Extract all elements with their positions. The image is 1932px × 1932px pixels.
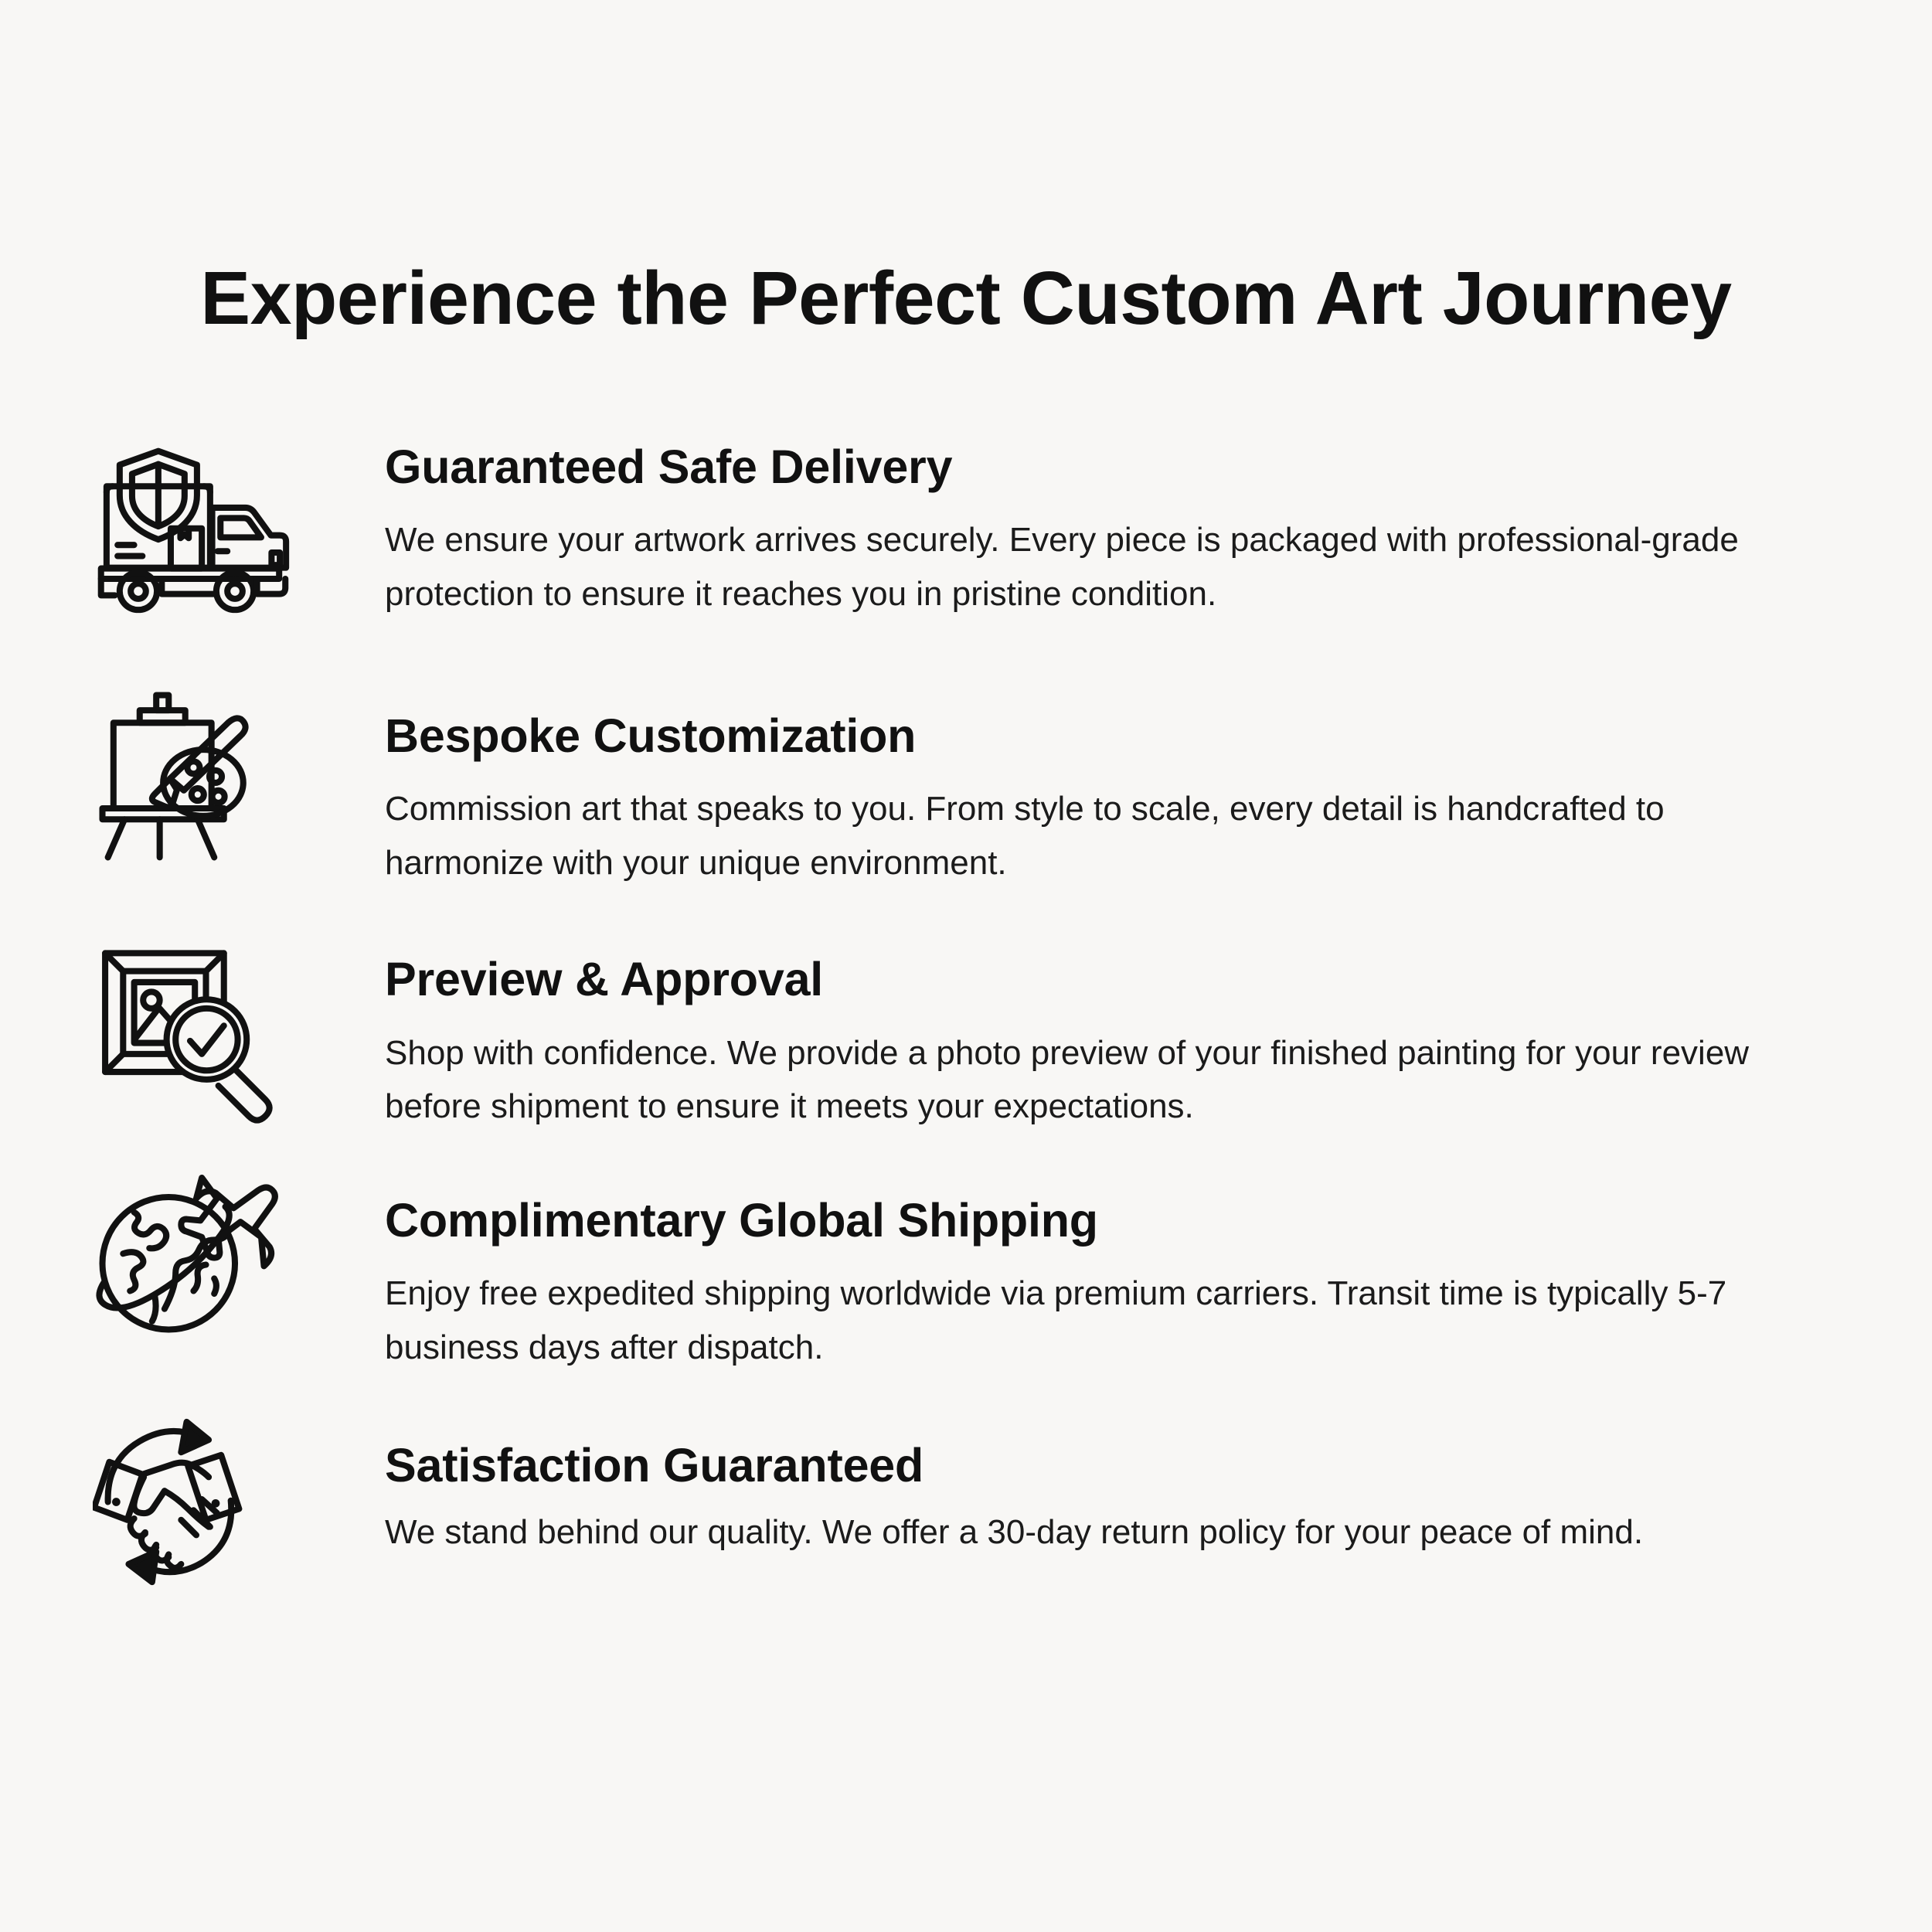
feature-text-block: Guaranteed Safe Delivery We ensure your … <box>325 433 1754 621</box>
feature-description: We ensure your artwork arrives securely.… <box>385 513 1754 621</box>
feature-item-preview-approval: Preview & Approval Shop with confidence.… <box>93 927 1839 1133</box>
feature-description: We stand behind our quality. We offer a … <box>385 1505 1754 1560</box>
feature-description: Shop with confidence. We provide a photo… <box>385 1026 1754 1134</box>
feature-title: Complimentary Global Shipping <box>385 1194 1754 1247</box>
feature-title: Preview & Approval <box>385 953 1754 1005</box>
framed-picture-magnifier-check-icon <box>93 927 325 1128</box>
feature-item-bespoke-customization: Bespoke Customization Commission art tha… <box>93 675 1839 889</box>
feature-description: Enjoy free expedited shipping worldwide … <box>385 1267 1754 1374</box>
handshake-refresh-arrows-icon <box>93 1405 325 1606</box>
feature-item-satisfaction-guaranteed: Satisfaction Guaranteed We stand behind … <box>93 1405 1839 1606</box>
shield-delivery-truck-icon <box>93 433 325 634</box>
feature-text-block: Bespoke Customization Commission art tha… <box>325 675 1754 889</box>
feature-text-block: Satisfaction Guaranteed We stand behind … <box>325 1405 1754 1560</box>
feature-item-global-shipping: Complimentary Global Shipping Enjoy free… <box>93 1168 1839 1374</box>
feature-highlights-page: Experience the Perfect Custom Art Journe… <box>0 0 1932 1932</box>
globe-airplane-icon <box>93 1168 325 1369</box>
feature-text-block: Preview & Approval Shop with confidence.… <box>325 927 1754 1133</box>
easel-palette-brush-icon <box>93 675 325 876</box>
page-title: Experience the Perfect Custom Art Journe… <box>0 257 1932 340</box>
feature-title: Guaranteed Safe Delivery <box>385 440 1754 493</box>
feature-title: Bespoke Customization <box>385 709 1754 762</box>
feature-description: Commission art that speaks to you. From … <box>385 782 1754 889</box>
feature-title: Satisfaction Guaranteed <box>385 1439 1754 1492</box>
feature-list: Guaranteed Safe Delivery We ensure your … <box>93 433 1839 1606</box>
feature-item-safe-delivery: Guaranteed Safe Delivery We ensure your … <box>93 433 1839 634</box>
feature-text-block: Complimentary Global Shipping Enjoy free… <box>325 1168 1754 1374</box>
